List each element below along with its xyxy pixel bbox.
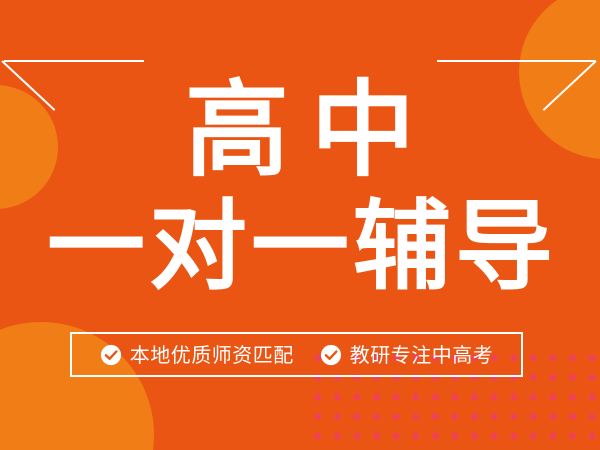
decorative-line-top-right-horizontal	[437, 60, 596, 62]
feature-label-2: 教研专注中高考	[350, 345, 494, 365]
headline-line-primary: 高中	[0, 78, 600, 182]
check-circle-icon	[100, 344, 122, 366]
feature-label-1: 本地优质师资匹配	[130, 345, 294, 365]
promo-banner: 高中 一对一辅导 本地优质师资匹配 教研专注中高考	[0, 0, 600, 450]
check-circle-icon	[320, 344, 342, 366]
feature-item-1: 本地优质师资匹配	[100, 344, 294, 366]
headline-line-secondary: 一对一辅导	[0, 198, 600, 296]
decorative-line-top-left-horizontal	[4, 60, 144, 62]
feature-item-2: 教研专注中高考	[320, 344, 494, 366]
feature-bar: 本地优质师资匹配 教研专注中高考	[70, 332, 523, 377]
